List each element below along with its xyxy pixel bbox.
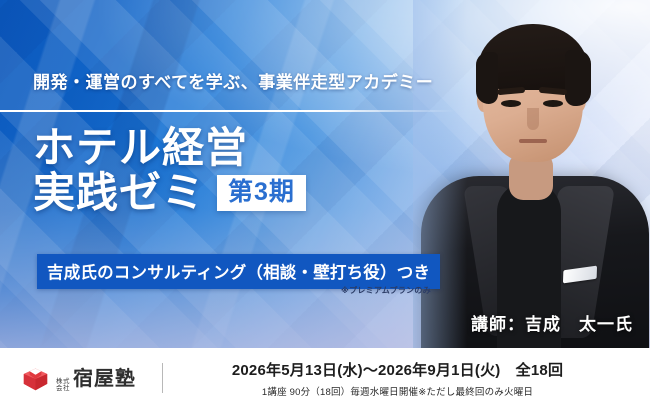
premium-plan-note: ※プレミアムプランのみ bbox=[341, 285, 431, 296]
consulting-ribbon: 吉成氏のコンサルティング（相談・壁打ち役）つき bbox=[37, 254, 440, 289]
photo-hair-side-left bbox=[476, 52, 498, 104]
banner-title-row-2: 実践ゼミ 第3期 bbox=[33, 171, 433, 216]
banner-title-line-1: ホテル経営 bbox=[33, 126, 433, 171]
photo-eye-right bbox=[543, 100, 563, 107]
course-promo-banner: 開発・運営のすべてを学ぶ、事業伴走型アカデミー ホテル経営 実践ゼミ 第3期 吉… bbox=[0, 0, 650, 408]
banner-title-block: ホテル経営 実践ゼミ 第3期 bbox=[33, 126, 433, 215]
photo-nose bbox=[527, 108, 539, 130]
schedule-period: 2026年5月13日(水)〜2026年9月1日(火) 全18回 bbox=[163, 359, 632, 380]
photo-mouth bbox=[519, 139, 547, 143]
lecturer-photo bbox=[413, 0, 650, 348]
photo-hair-side-right bbox=[565, 50, 591, 106]
company-name-label: 宿屋塾 bbox=[73, 362, 136, 391]
banner-footer: 株式 会社 宿屋塾 2026年5月13日(水)〜2026年9月1日(火) 全18… bbox=[0, 348, 650, 408]
banner-kicker: 開発・運営のすべてを学ぶ、事業伴走型アカデミー bbox=[33, 68, 433, 93]
company-type-label: 株式 会社 bbox=[56, 378, 70, 393]
header-divider-rule bbox=[0, 110, 455, 112]
banner-title-line-2: 実践ゼミ bbox=[33, 171, 205, 216]
schedule-block: 2026年5月13日(水)〜2026年9月1日(火) 全18回 1講座 90分（… bbox=[163, 359, 650, 398]
company-logo-text: 株式 会社 宿屋塾 bbox=[56, 362, 136, 395]
schedule-detail: 1講座 90分（18回）毎週水曜日開催※ただし最終回のみ火曜日 bbox=[163, 384, 632, 398]
lecturer-name-label: 講師：吉成 太一氏 bbox=[471, 310, 633, 335]
cube-logo-icon bbox=[22, 365, 49, 392]
company-logo: 株式 会社 宿屋塾 bbox=[0, 362, 163, 395]
photo-eye-left bbox=[501, 100, 521, 107]
term-badge: 第3期 bbox=[217, 175, 306, 211]
